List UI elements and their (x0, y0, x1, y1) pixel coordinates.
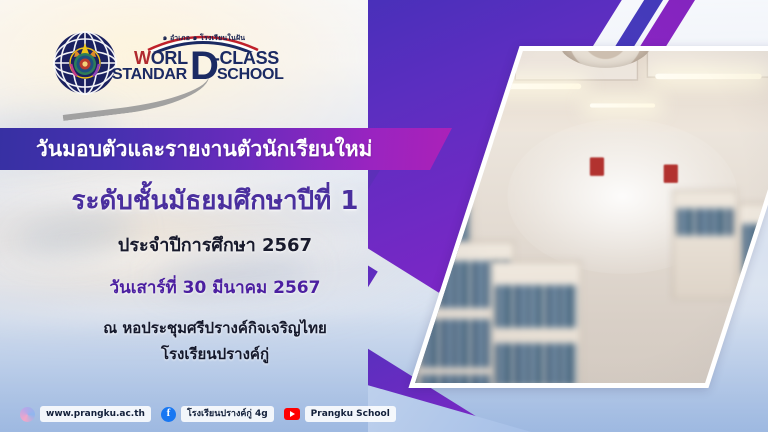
logo-orl-letters: ORL (151, 48, 188, 68)
logo-arc-thai-text: ๑ อำเภอ ๑ โรงเรียนในฝัน (144, 33, 264, 44)
logo-class-letters: -CLASS (214, 48, 279, 68)
venue-hall-text: ณ หอประชุมศรีปรางค์กิจเจริญไทย (0, 316, 430, 340)
contact-footer: www.prangku.ac.th f โรงเรียนปรางค์กู่ 4g… (0, 396, 768, 432)
footer-youtube[interactable]: Prangku School (284, 406, 396, 422)
title-ribbon: วันมอบตัวและรายงานตัวนักเรียนใหม่ (0, 128, 452, 170)
logo-w-letter: W (134, 48, 151, 68)
website-label[interactable]: www.prangku.ac.th (40, 406, 151, 422)
footer-facebook[interactable]: f โรงเรียนปรางค์กู่ 4g (161, 406, 274, 422)
youtube-icon (284, 408, 300, 420)
venue-school-text: โรงเรียนปรางค์กู่ (0, 342, 430, 366)
logo-wordmark: WORL-CLASS STANDARSCHOOL D (112, 48, 272, 104)
announcement-poster: ๑ อำเภอ ๑ โรงเรียนในฝัน WORL-CLASS STAND… (0, 0, 768, 432)
event-date-text: วันเสาร์ที่ 30 มีนาคม 2567 (0, 274, 430, 301)
ribbon-title-text: วันมอบตัวและรายงานตัวนักเรียนใหม่ (36, 133, 372, 166)
youtube-label[interactable]: Prangku School (305, 406, 396, 422)
facebook-icon: f (161, 407, 176, 422)
logo-big-d-letter: D (190, 46, 219, 86)
footer-website[interactable]: www.prangku.ac.th (20, 406, 151, 422)
world-class-standard-school-logo: ๑ อำเภอ ๑ โรงเรียนในฝัน WORL-CLASS STAND… (52, 26, 262, 108)
grade-level-headline: ระดับชั้นมัธยมศึกษาปีที่ 1 (0, 180, 430, 221)
academic-year-text: ประจำปีการศึกษา 2567 (0, 230, 430, 259)
facebook-label[interactable]: โรงเรียนปรางค์กู่ 4g (181, 406, 274, 422)
website-globe-icon (20, 407, 35, 422)
logo-standar-letters: STANDAR (112, 66, 187, 83)
logo-school-letters: SCHOOL (217, 66, 284, 83)
